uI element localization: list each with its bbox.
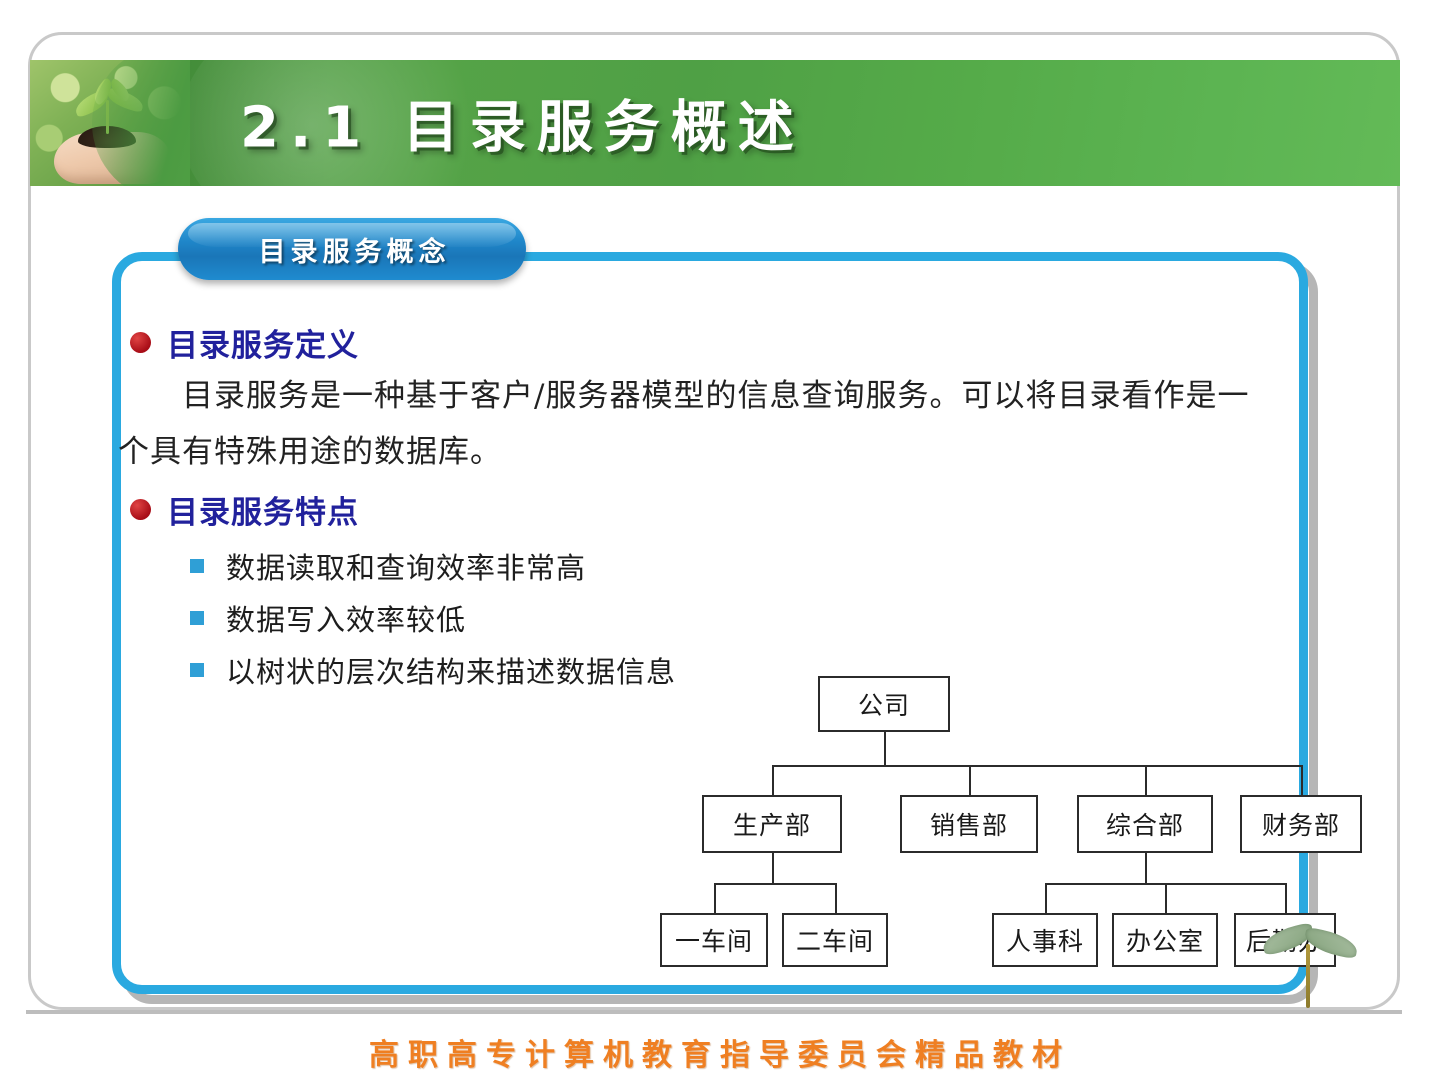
org-node-shop2: 二车间	[782, 913, 888, 967]
org-node-office: 办公室	[1112, 913, 1218, 967]
section-heading-label: 目录服务定义	[167, 320, 359, 365]
square-bullet-icon	[190, 663, 204, 677]
section-heading-definition: 目录服务定义	[130, 320, 359, 365]
seedling-photo	[30, 60, 190, 186]
connector-vertical	[1145, 765, 1147, 795]
slide-header-banner: 2.1 目录服务概述	[30, 60, 1400, 186]
section-badge-label: 目录服务概念	[178, 218, 526, 280]
slide-title: 2.1 目录服务概述	[240, 83, 805, 164]
decorative-sprout-icon	[1262, 898, 1358, 1010]
list-item: 数据写入效率较低	[190, 592, 910, 644]
connector-vertical	[1145, 853, 1147, 883]
definition-paragraph: 目录服务是一种基于客户/服务器模型的信息查询服务。可以将目录看作是一个具有特殊用…	[118, 368, 1278, 480]
square-bullet-icon	[190, 611, 204, 625]
list-item-label: 数据写入效率较低	[226, 597, 466, 639]
section-heading-features: 目录服务特点	[130, 487, 359, 532]
square-bullet-icon	[190, 559, 204, 573]
decorative-stem	[1306, 944, 1310, 1008]
connector-horizontal	[772, 765, 1301, 767]
slide-content: 目录服务定义 目录服务是一种基于客户/服务器模型的信息查询服务。可以将目录看作是…	[112, 300, 1308, 1000]
footer-text: 高职高专计算机教育指导委员会精品教材	[0, 1030, 1440, 1074]
connector-vertical	[714, 883, 716, 913]
org-node-company: 公司	[818, 676, 950, 732]
org-node-finance: 财务部	[1240, 795, 1362, 853]
list-item-label: 数据读取和查询效率非常高	[226, 545, 586, 587]
section-badge: 目录服务概念	[178, 218, 526, 280]
connector-vertical	[835, 883, 837, 913]
list-item: 数据读取和查询效率非常高	[190, 540, 910, 592]
section-heading-label: 目录服务特点	[167, 487, 359, 532]
photo-circle-mask	[92, 60, 190, 186]
connector-vertical	[772, 853, 774, 883]
red-bullet-icon	[130, 499, 151, 520]
red-bullet-icon	[130, 332, 151, 353]
connector-vertical	[1301, 765, 1303, 795]
connector-vertical	[1045, 883, 1047, 913]
org-node-prod: 生产部	[702, 795, 842, 853]
org-node-general: 综合部	[1077, 795, 1213, 853]
connector-vertical	[772, 765, 774, 795]
connector-vertical	[1165, 883, 1167, 913]
org-node-sales: 销售部	[900, 795, 1038, 853]
connector-vertical	[884, 732, 886, 765]
org-node-hr: 人事科	[992, 913, 1098, 967]
org-node-shop1: 一车间	[660, 913, 768, 967]
connector-horizontal	[714, 883, 835, 885]
decorative-leaf-icon	[1302, 927, 1359, 960]
org-chart-diagram: 公司生产部销售部综合部财务部一车间二车间人事科办公室后勤办	[542, 670, 1282, 980]
footer-divider	[26, 1010, 1402, 1014]
connector-vertical	[969, 765, 971, 795]
